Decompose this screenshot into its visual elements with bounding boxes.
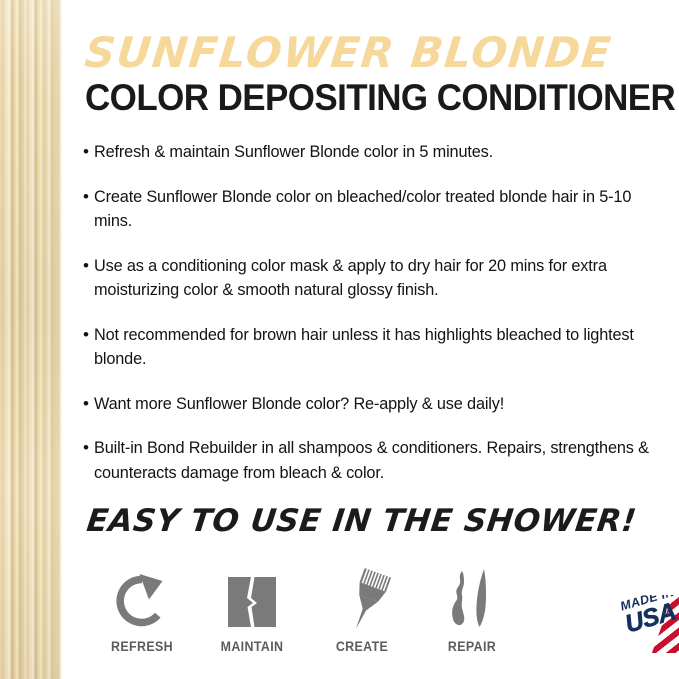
usage-step-create: CREATE xyxy=(307,568,417,654)
list-item: • Use as a conditioning color mask & app… xyxy=(83,254,661,303)
list-item: • Built-in Bond Rebuilder in all shampoo… xyxy=(83,436,661,485)
usage-step-refresh: REFRESH xyxy=(87,568,197,654)
list-item: • Create Sunflower Blonde color on bleac… xyxy=(83,185,661,234)
bullet-dot-icon: • xyxy=(83,323,94,347)
hair-vertical-shading xyxy=(0,0,63,679)
benefit-text: Use as a conditioning color mask & apply… xyxy=(94,254,661,303)
bullet-dot-icon: • xyxy=(83,140,94,164)
bullet-dot-icon: • xyxy=(83,185,94,209)
usage-step-maintain: MAINTAIN xyxy=(197,568,307,654)
list-item: • Refresh & maintain Sunflower Blonde co… xyxy=(83,140,661,165)
usage-step-label: CREATE xyxy=(311,639,412,654)
benefit-text: Create Sunflower Blonde color on bleache… xyxy=(94,185,661,234)
usage-step-label: REFRESH xyxy=(91,639,192,654)
brand-title: SUNFLOWER BLONDE xyxy=(83,30,668,76)
content-column: SUNFLOWER BLONDE COLOR DEPOSITING CONDIT… xyxy=(63,0,679,679)
usage-step-label: REPAIR xyxy=(421,639,522,654)
usage-step-label: MAINTAIN xyxy=(201,639,302,654)
benefit-text: Refresh & maintain Sunflower Blonde colo… xyxy=(94,140,661,165)
bullet-dot-icon: • xyxy=(83,392,94,416)
list-item: • Not recommended for brown hair unless … xyxy=(83,323,661,372)
benefit-text: Want more Sunflower Blonde color? Re-app… xyxy=(94,392,661,417)
blonde-hair-swatch-image xyxy=(0,0,63,679)
usage-step-repair: REPAIR xyxy=(417,568,527,654)
usage-heading: EASY TO USE IN THE SHOWER! xyxy=(85,503,639,539)
split-block-icon xyxy=(197,568,307,630)
hair-strands-icon xyxy=(417,568,527,630)
product-title: COLOR DEPOSITING CONDITIONER xyxy=(85,78,633,118)
bullet-dot-icon: • xyxy=(83,254,94,278)
made-in-usa-badge: MADE IN USA xyxy=(615,595,679,653)
product-infographic: SUNFLOWER BLONDE COLOR DEPOSITING CONDIT… xyxy=(0,0,679,679)
title-block: SUNFLOWER BLONDE COLOR DEPOSITING CONDIT… xyxy=(85,30,665,118)
tint-brush-icon xyxy=(307,568,417,630)
list-item: • Want more Sunflower Blonde color? Re-a… xyxy=(83,392,661,417)
benefit-text: Not recommended for brown hair unless it… xyxy=(94,323,661,372)
refresh-circular-arrow-icon xyxy=(87,568,197,630)
benefits-list: • Refresh & maintain Sunflower Blonde co… xyxy=(83,140,661,505)
benefit-text: Built-in Bond Rebuilder in all shampoos … xyxy=(94,436,661,485)
bullet-dot-icon: • xyxy=(83,436,94,460)
usage-icon-row: REFRESH MAINTAIN xyxy=(87,568,537,654)
